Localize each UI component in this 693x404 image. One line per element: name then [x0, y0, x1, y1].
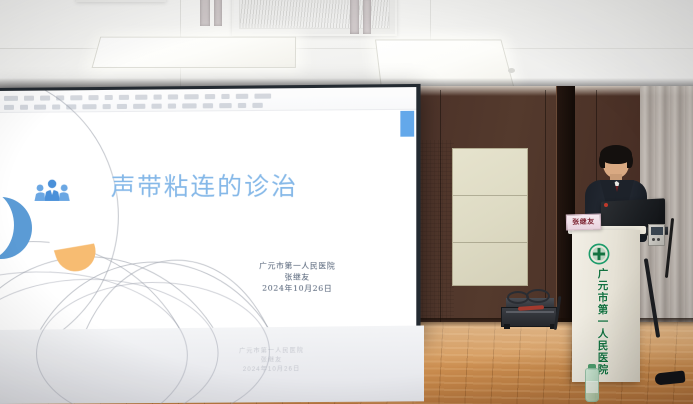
water-bottle — [585, 368, 599, 402]
cable-coil — [526, 289, 550, 303]
acoustic-wall-panel — [452, 148, 528, 286]
ribbon-item[interactable] — [203, 103, 213, 108]
ac-slot — [214, 0, 222, 26]
nameplate-text: 张继友 — [572, 217, 595, 228]
ac-slot — [350, 0, 359, 34]
ribbon-item[interactable] — [135, 95, 147, 100]
ribbon-item[interactable] — [221, 94, 229, 99]
sign-char: 广 — [578, 268, 628, 280]
ribbon-item[interactable] — [252, 103, 262, 108]
ribbon-item[interactable] — [219, 103, 231, 108]
bottle-label — [586, 381, 598, 393]
sign-char: 医 — [578, 352, 628, 364]
case-edge — [506, 311, 554, 313]
ribbon-item[interactable] — [205, 94, 215, 99]
slide-date: 2024年10月26日 — [219, 282, 376, 294]
ribbon-item[interactable] — [151, 104, 161, 109]
ghost-date: 2024年10月26日 — [239, 365, 304, 375]
hospital-cross-logo-icon — [588, 243, 610, 265]
ribbon-item[interactable] — [103, 104, 111, 109]
ghost-organization: 广元市第一人民医院 — [239, 347, 304, 357]
ribbon-item[interactable] — [168, 94, 178, 99]
slide-presenter: 张继友 — [219, 271, 376, 283]
ribbon-item[interactable] — [119, 95, 129, 100]
ribbon-item[interactable] — [88, 95, 98, 100]
slide-organization: 广元市第一人民医院 — [219, 260, 376, 272]
sign-char: 元 — [578, 280, 628, 292]
wall-seam — [440, 90, 441, 326]
ac-slot — [363, 0, 371, 34]
control-button[interactable] — [657, 238, 660, 241]
slide-accent-square — [400, 111, 414, 137]
ribbon-item[interactable] — [105, 95, 113, 100]
control-button[interactable] — [652, 238, 655, 241]
podium-control-panel[interactable] — [648, 224, 665, 246]
apron-ghost-text: 广元市第一人民医院 张继友 2024年10月26日 — [239, 347, 304, 375]
ribbon-item[interactable] — [168, 104, 176, 109]
ribbon-item[interactable] — [238, 103, 246, 108]
ceiling-sensor-icon — [508, 68, 515, 73]
ribbon-item[interactable] — [182, 103, 196, 108]
ceiling-light-panel — [92, 37, 297, 68]
ribbon-item[interactable] — [117, 104, 127, 109]
control-panel-display — [651, 227, 663, 235]
case-foot — [504, 324, 510, 329]
sign-char: 人 — [578, 328, 628, 340]
ac-slot — [200, 0, 210, 26]
ribbon-item[interactable] — [154, 95, 162, 100]
sign-char: 市 — [578, 292, 628, 304]
presenter-hair-side — [599, 154, 605, 168]
slide-subtitle-block: 广元市第一人民医院 张继友 2024年10月26日 — [219, 260, 376, 295]
ribbon-item[interactable] — [254, 94, 271, 99]
ribbon-item[interactable] — [82, 104, 96, 109]
laptop-logo-icon — [604, 203, 608, 207]
lecture-hall-scene: 声带粘连的诊治 广元市第一人民医院 张继友 2024年10月26日 广元市第一人… — [0, 0, 693, 404]
podium-hospital-sign: 广 元 市 第 一 人 民 医 院 — [578, 268, 628, 376]
ribbon-item[interactable] — [184, 94, 198, 99]
slide-title: 声带粘连的诊治 — [0, 166, 416, 202]
ac-vent — [76, 0, 166, 2]
sign-char: 第 — [578, 304, 628, 316]
screen-lower-apron: 广元市第一人民医院 张继友 2024年10月26日 — [0, 326, 424, 404]
ac-vent — [232, 0, 397, 36]
ribbon-item[interactable] — [133, 104, 145, 109]
ribbon-item[interactable] — [70, 95, 82, 100]
sign-char: 民 — [578, 340, 628, 352]
sign-char: 一 — [578, 316, 628, 328]
podium: 广 元 市 第 一 人 民 医 院 — [572, 230, 640, 382]
presenter-hair-side — [627, 154, 633, 168]
presenter-nameplate: 张继友 — [566, 214, 601, 231]
ribbon-item[interactable] — [236, 94, 248, 99]
